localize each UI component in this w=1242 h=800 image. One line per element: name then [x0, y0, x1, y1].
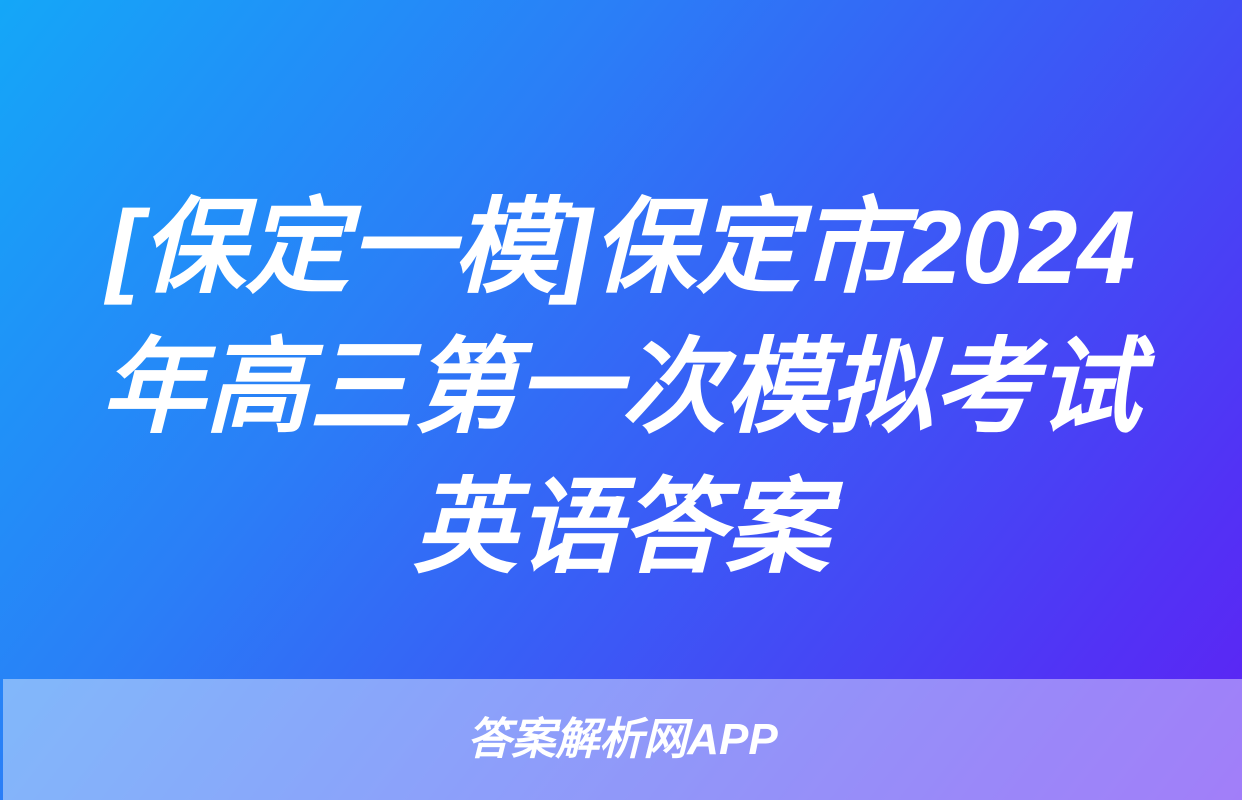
- poster-canvas: [保定一模]保定市2024年高三第一次模拟考试英语答案 答案解析网APP: [0, 0, 1242, 800]
- app-watermark-label: 答案解析网APP: [467, 718, 777, 762]
- footer-watermark-band: 答案解析网APP: [3, 679, 1242, 800]
- page-title: [保定一模]保定市2024年高三第一次模拟考试英语答案: [0, 178, 1242, 598]
